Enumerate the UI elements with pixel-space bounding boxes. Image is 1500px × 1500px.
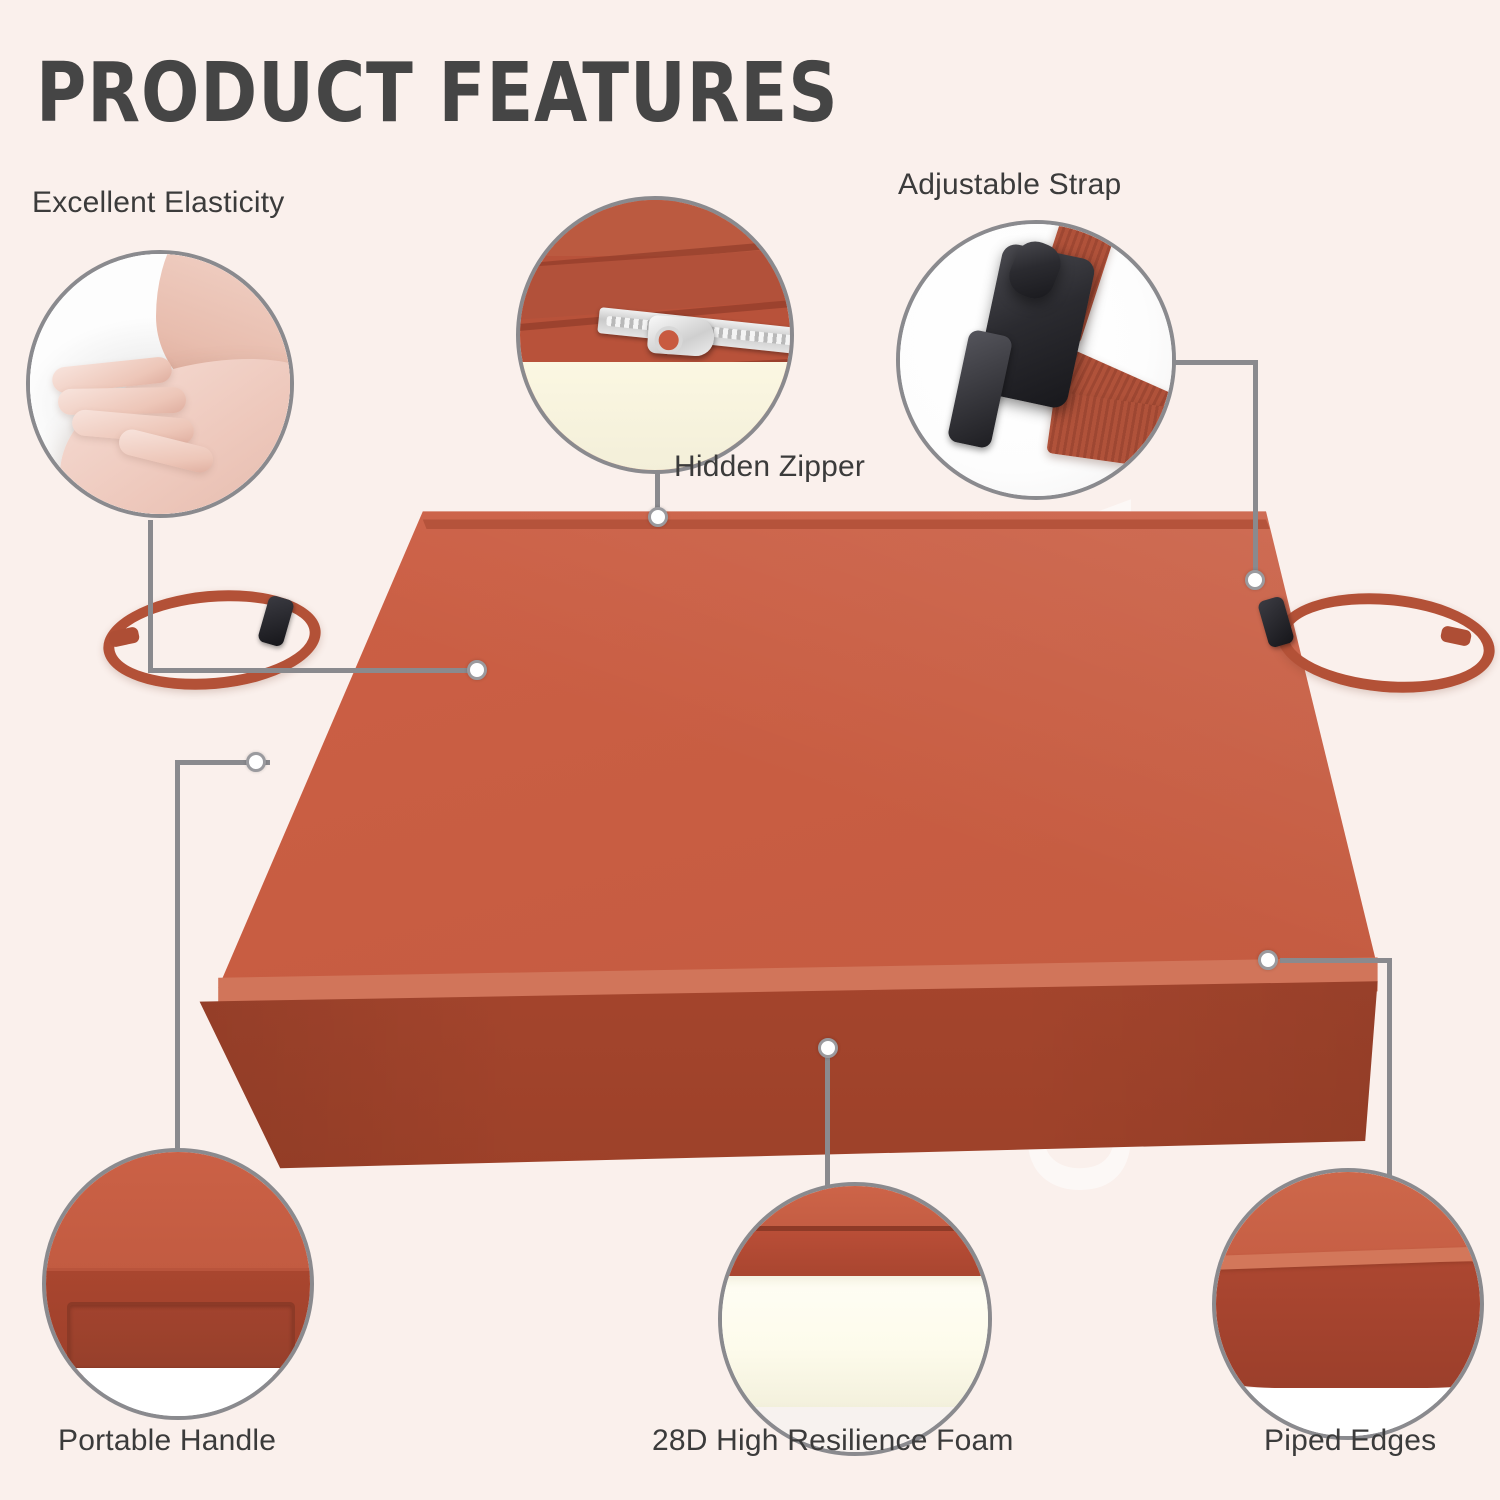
feature-bubble-high-resilience-foam[interactable] xyxy=(718,1182,992,1456)
handle-photo xyxy=(46,1152,310,1416)
feature-bubble-excellent-elasticity[interactable] xyxy=(26,250,294,518)
right-carry-strap xyxy=(1255,588,1485,688)
callout-dot-strap xyxy=(1245,570,1265,590)
foam-block xyxy=(722,1276,988,1409)
foam-cover-side xyxy=(722,1231,988,1279)
feature-bubble-hidden-zipper[interactable] xyxy=(516,196,794,474)
page-title: PRODUCT FEATURES xyxy=(36,46,839,141)
feature-label-adjustable-strap: Adjustable Strap xyxy=(898,168,1121,202)
feature-bubble-adjustable-strap[interactable] xyxy=(896,220,1176,500)
foam-cover-top xyxy=(722,1186,988,1229)
connector-piped-vertical xyxy=(1387,958,1392,1180)
zipper-photo xyxy=(520,200,790,470)
handle-cushion-top xyxy=(46,1152,310,1273)
connector-handle-vertical xyxy=(175,760,180,1175)
callout-dot-handle xyxy=(246,752,266,772)
feature-bubble-piped-edges[interactable] xyxy=(1212,1168,1484,1440)
feature-label-high-resilience-foam: 28D High Resilience Foam xyxy=(652,1424,1014,1458)
foam-photo xyxy=(722,1186,988,1452)
connector-elasticity-vertical xyxy=(148,520,153,670)
infographic-canvas: FAVOYARD PRODUCT FEATURES xyxy=(0,0,1500,1500)
connector-piped-horizontal xyxy=(1280,958,1392,963)
feature-bubble-portable-handle[interactable] xyxy=(42,1148,314,1420)
handle-strap xyxy=(67,1302,295,1370)
callout-dot-elasticity xyxy=(467,660,487,680)
zipper-pull xyxy=(647,315,715,358)
connector-foam-vertical xyxy=(825,1048,830,1193)
callout-dot-piped xyxy=(1258,950,1278,970)
piped-cushion-side xyxy=(1216,1262,1480,1389)
handle-backdrop xyxy=(46,1368,310,1416)
feature-label-piped-edges: Piped Edges xyxy=(1264,1424,1436,1458)
feature-label-excellent-elasticity: Excellent Elasticity xyxy=(32,186,284,220)
feature-label-portable-handle: Portable Handle xyxy=(58,1424,276,1458)
elasticity-photo xyxy=(30,254,290,514)
product-cushion-illustration xyxy=(150,495,1390,1175)
feature-label-hidden-zipper: Hidden Zipper xyxy=(674,450,865,484)
connector-strap-vertical xyxy=(1253,360,1258,582)
callout-dot-zipper xyxy=(648,507,668,527)
right-strap-clip xyxy=(1257,595,1295,648)
callout-dot-foam xyxy=(818,1038,838,1058)
strap-photo xyxy=(900,224,1172,496)
connector-elasticity-horizontal xyxy=(148,668,478,673)
piped-edges-photo xyxy=(1216,1172,1480,1436)
